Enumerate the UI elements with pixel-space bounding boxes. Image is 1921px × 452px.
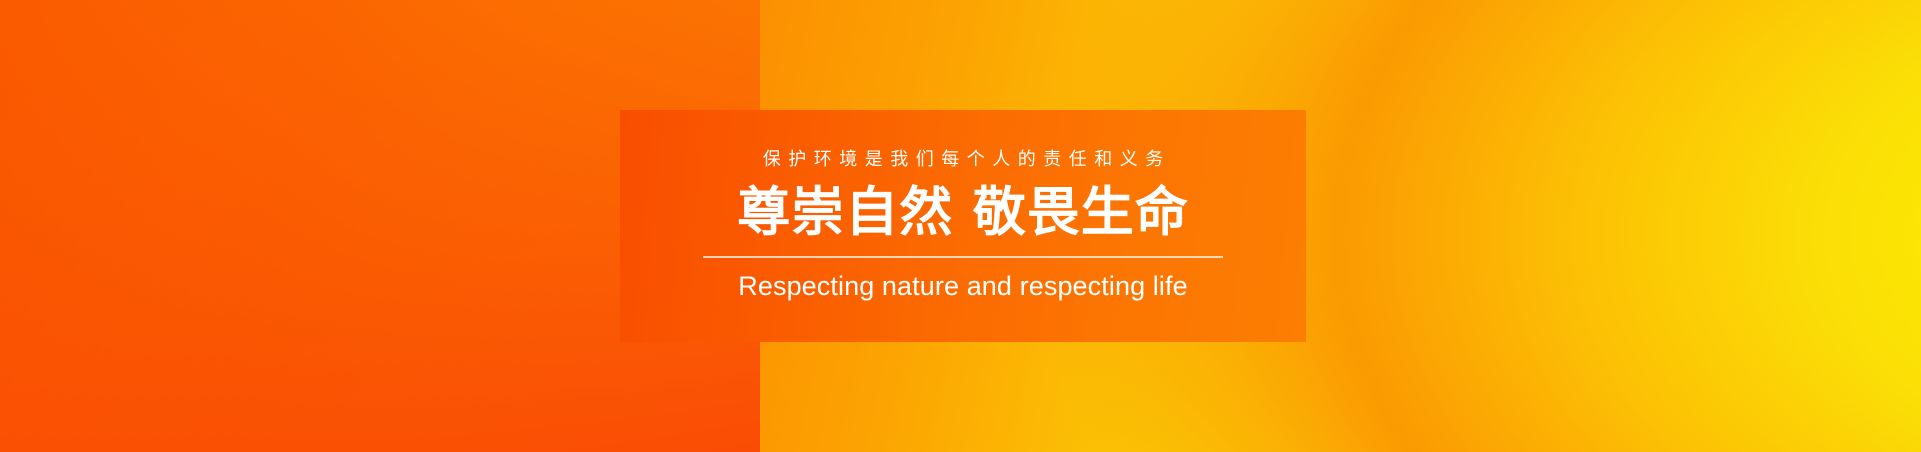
slogan-panel: 保护环境是我们每个人的责任和义务 尊崇自然 敬畏生命 Respecting na…	[620, 110, 1306, 342]
slogan-content: 保护环境是我们每个人的责任和义务 尊崇自然 敬畏生命 Respecting na…	[703, 151, 1223, 302]
slogan-divider	[703, 256, 1223, 258]
slogan-headline-text: 尊崇自然 敬畏生命	[737, 185, 1188, 241]
slogan-kicker-text: 保护环境是我们每个人的责任和义务	[755, 151, 1171, 169]
slogan-subtitle-text: Respecting nature and respecting life	[738, 272, 1187, 302]
environmental-slogan-banner: 保护环境是我们每个人的责任和义务 尊崇自然 敬畏生命 Respecting na…	[0, 0, 1921, 452]
